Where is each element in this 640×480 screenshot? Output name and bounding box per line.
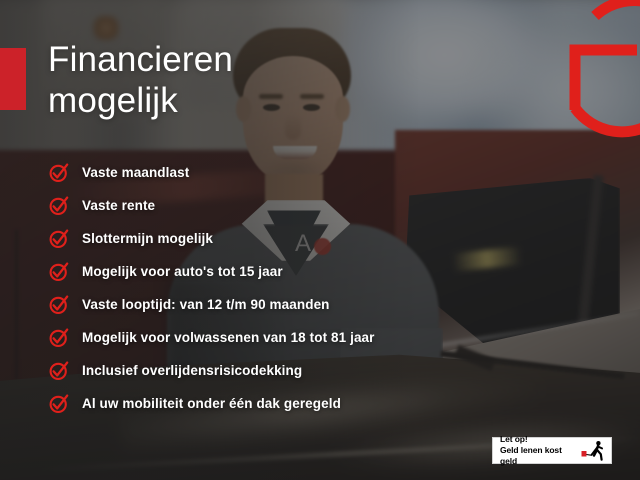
list-item: Inclusief overlijdensrisicodekking [48,354,468,387]
list-item: Vaste rente [48,189,468,222]
check-circle-icon [48,294,70,316]
list-item-label: Vaste maandlast [82,165,189,180]
list-item: Al uw mobiliteit onder één dak geregeld [48,387,468,420]
list-item-label: Vaste looptijd: van 12 t/m 90 maanden [82,297,330,312]
title-line-1: Financieren [48,40,378,81]
list-item-label: Al uw mobiliteit onder één dak geregeld [82,396,341,411]
check-circle-icon [48,327,70,349]
feature-list: Vaste maandlast Vaste rente Slottermijn … [48,156,468,420]
afm-text: Let op! Geld lenen kost geld [500,434,581,467]
check-circle-icon [48,162,70,184]
list-item-label: Mogelijk voor volwassenen van 18 tot 81 … [82,330,375,345]
afm-line-2: Geld lenen kost geld [500,445,581,467]
list-item-label: Mogelijk voor auto's tot 15 jaar [82,264,283,279]
list-item: Mogelijk voor volwassenen van 18 tot 81 … [48,321,468,354]
check-circle-icon [48,228,70,250]
check-circle-icon [48,195,70,217]
check-circle-icon [48,261,70,283]
check-circle-icon [48,393,70,415]
title-line-2: mogelijk [48,81,378,122]
financing-banner: A Financieren mogelijk [0,0,640,480]
banner-title: Financieren mogelijk [48,40,378,121]
afm-line-1: Let op! [500,434,581,445]
list-item: Vaste maandlast [48,156,468,189]
circular-arrow-icon [545,0,640,138]
check-circle-icon [48,360,70,382]
afm-warning-badge: Let op! Geld lenen kost geld [492,437,612,464]
list-item: Mogelijk voor auto's tot 15 jaar [48,255,468,288]
list-item: Vaste looptijd: van 12 t/m 90 maanden [48,288,468,321]
man-pulling-weight-icon [581,440,607,462]
red-circular-arrow-logo [545,0,640,138]
list-item-label: Inclusief overlijdensrisicodekking [82,363,302,378]
list-item: Slottermijn mogelijk [48,222,468,255]
list-item-label: Vaste rente [82,198,155,213]
list-item-label: Slottermijn mogelijk [82,231,213,246]
red-accent-square [0,48,26,110]
